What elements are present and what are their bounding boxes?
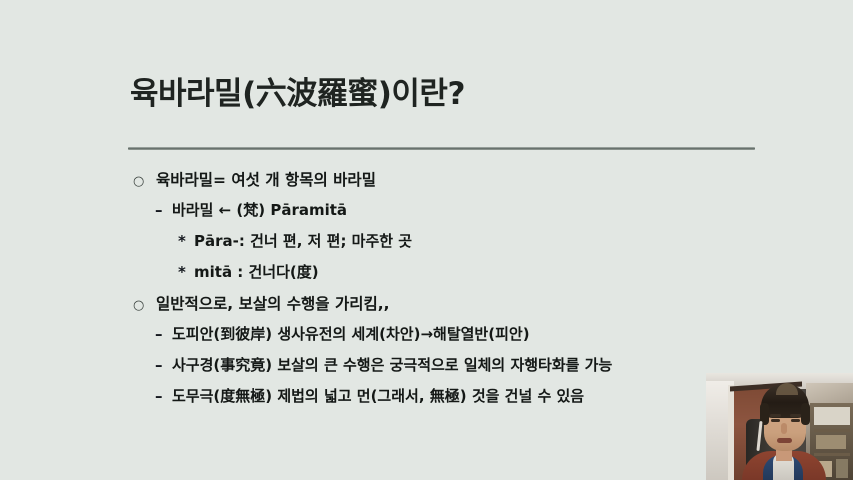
list-item: ○ 육바라밀= 여섯 개 항목의 바라밀 <box>0 168 853 199</box>
presenter-webcam-video[interactable] <box>706 373 853 480</box>
video-shelf-item <box>816 435 846 449</box>
list-item-text: 사구경(事究竟) 보살의 큰 수행은 궁극적으로 일체의 자행타화를 가능 <box>172 354 612 375</box>
bullet-dash-icon: – <box>155 387 172 405</box>
list-item-text: Pāra-: 건너 편, 저 편; 마주한 곳 <box>194 230 412 251</box>
page-title: 육바라밀(六波羅蜜)이란? <box>130 68 465 113</box>
video-person-eyebrow <box>790 414 801 417</box>
bullet-circle-icon: ○ <box>133 298 156 313</box>
presentation-slide: 육바라밀(六波羅蜜)이란? ○ 육바라밀= 여섯 개 항목의 바라밀 – 바라밀… <box>0 0 853 480</box>
video-person-eyebrow <box>770 414 781 417</box>
video-shelf-board <box>814 429 850 432</box>
list-item-text: 일반적으로, 보살의 수행을 가리킴,, <box>156 292 390 314</box>
bullet-asterisk-icon: * <box>178 263 194 281</box>
bullet-asterisk-icon: * <box>178 232 194 250</box>
list-item-text: 도무극(度無極) 제법의 넓고 먼(그래서, 無極) 것을 건널 수 있음 <box>172 385 584 406</box>
list-item: * Pāra-: 건너 편, 저 편; 마주한 곳 <box>0 230 853 261</box>
bullet-dash-icon: – <box>155 201 172 219</box>
bullet-dash-icon: – <box>155 325 172 343</box>
video-person-mouth <box>777 438 792 443</box>
bullet-dash-icon: – <box>155 356 172 374</box>
video-person-hair-side <box>801 403 810 425</box>
list-item-text: 육바라밀= 여섯 개 항목의 바라밀 <box>156 168 376 190</box>
video-shelf-item <box>836 459 848 478</box>
title-divider <box>128 147 755 150</box>
list-item: – 도피안(到彼岸) 생사유전의 세계(차안)→해탈열반(피안) <box>0 323 853 354</box>
video-person-eye <box>771 419 780 422</box>
video-person-nose <box>781 423 787 434</box>
video-door-trim <box>728 385 734 480</box>
list-item-text: 도피안(到彼岸) 생사유전의 세계(차안)→해탈열반(피안) <box>172 323 530 344</box>
video-shelf-item <box>814 407 850 425</box>
bullet-circle-icon: ○ <box>133 174 156 189</box>
video-shelf-board <box>814 453 850 456</box>
list-item-text: 바라밀 ← (梵) Pāramitā <box>172 199 347 220</box>
list-item: ○ 일반적으로, 보살의 수행을 가리킴,, <box>0 292 853 323</box>
list-item: * mitā : 건너다(度) <box>0 261 853 292</box>
list-item-text: mitā : 건너다(度) <box>194 261 319 282</box>
video-person-eye <box>791 419 800 422</box>
list-item: – 바라밀 ← (梵) Pāramitā <box>0 199 853 230</box>
